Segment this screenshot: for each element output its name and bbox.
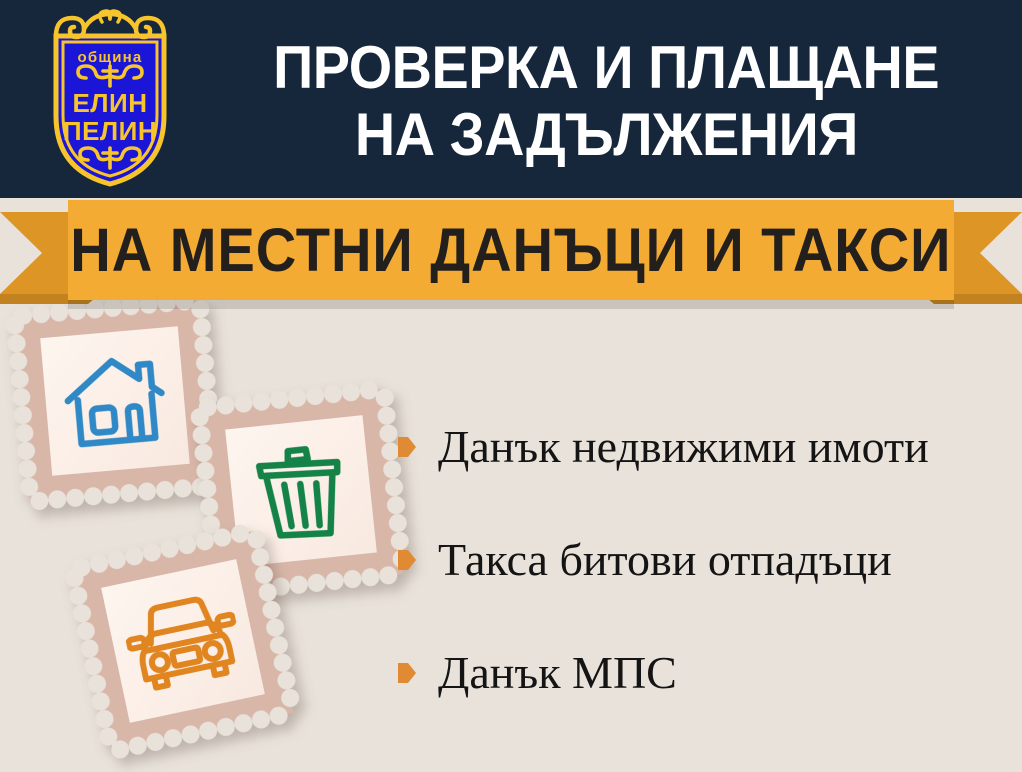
arrow-bullet-icon — [398, 661, 416, 685]
list-item-label: Данък МПС — [438, 650, 677, 696]
municipality-logo: община ЕЛИН ПЕЛИН — [30, 8, 190, 190]
car-front-icon — [119, 584, 248, 697]
list-item-label: Данък недвижими имоти — [438, 424, 929, 470]
services-list: Данък недвижими имоти Такса битови отпад… — [398, 418, 1018, 702]
svg-text:ПЕЛИН: ПЕЛИН — [63, 116, 157, 146]
arrow-bullet-icon — [398, 548, 416, 572]
svg-text:ЕЛИН: ЕЛИН — [72, 88, 147, 118]
list-item[interactable]: Данък недвижими имоти — [398, 418, 1018, 476]
stamp-property-tax — [14, 300, 216, 502]
subtitle-ribbon: НА МЕСТНИ ДАНЪЦИ И ТАКСИ — [0, 198, 1022, 308]
stamp-paper — [40, 326, 190, 476]
stamp-vehicle-tax — [73, 531, 294, 752]
house-icon — [59, 349, 171, 454]
arrow-bullet-icon — [398, 435, 416, 459]
ribbon-banner: НА МЕСТНИ ДАНЪЦИ И ТАКСИ — [68, 200, 954, 300]
stamp-paper — [101, 559, 265, 723]
page-title-line-1: ПРОВЕРКА И ПЛАЩАНЕ — [273, 34, 939, 101]
list-item[interactable]: Такса битови отпадъци — [398, 531, 1018, 589]
poster-canvas: община ЕЛИН ПЕЛИН ПРОВЕРКА И ПЛАЩАНЕ НА … — [0, 0, 1022, 772]
list-item[interactable]: Данък МПС — [398, 644, 1018, 702]
svg-text:община: община — [78, 49, 143, 66]
ribbon-label: НА МЕСТНИ ДАНЪЦИ И ТАКСИ — [70, 220, 951, 281]
list-item-label: Такса битови отпадъци — [438, 537, 892, 583]
coat-of-arms-icon: община ЕЛИН ПЕЛИН — [30, 8, 190, 190]
page-title: ПРОВЕРКА И ПЛАЩАНЕ НА ЗАДЪЛЖЕНИЯ — [196, 16, 1016, 186]
stamp-collage — [0, 300, 420, 772]
trash-bin-icon — [249, 436, 353, 545]
page-title-line-2: НА ЗАДЪЛЖЕНИЯ — [355, 101, 858, 168]
